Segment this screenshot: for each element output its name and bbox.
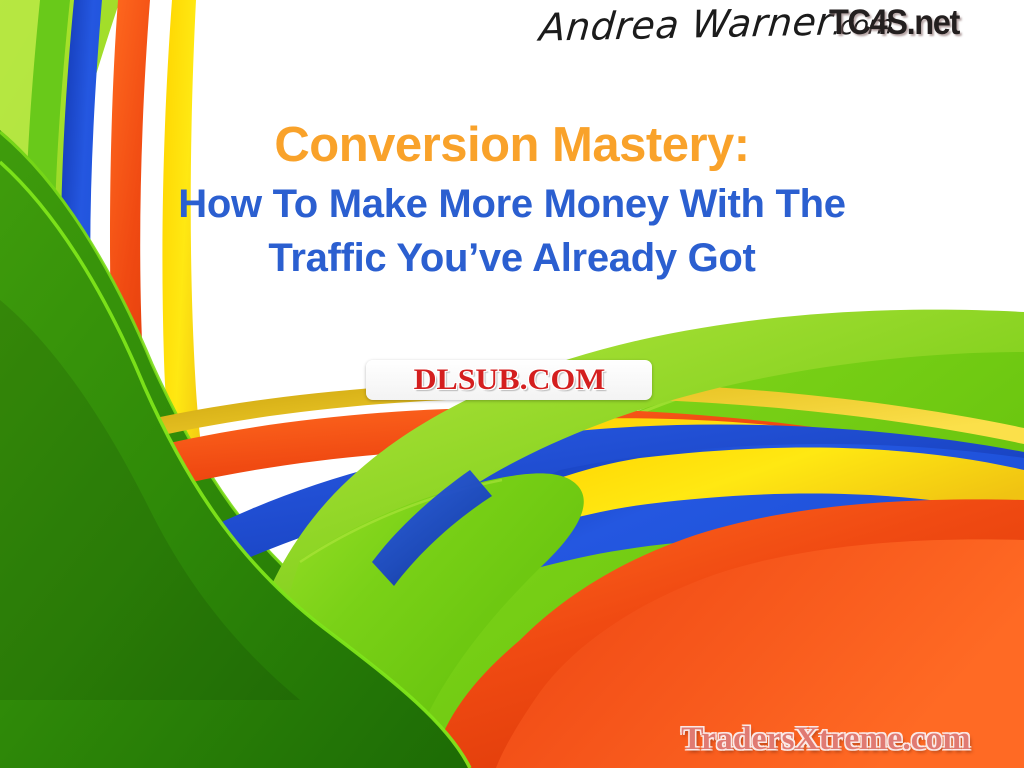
tradersxtreme-watermark: TradersXtreme.com xyxy=(681,721,970,758)
dlsub-watermark-text: DLSUB.COM xyxy=(413,363,605,397)
dlsub-watermark-badge: DLSUB.COM xyxy=(366,360,652,400)
presentation-slide: Andrea Warner.com TC4S.net Conversion Ma… xyxy=(0,0,1024,768)
